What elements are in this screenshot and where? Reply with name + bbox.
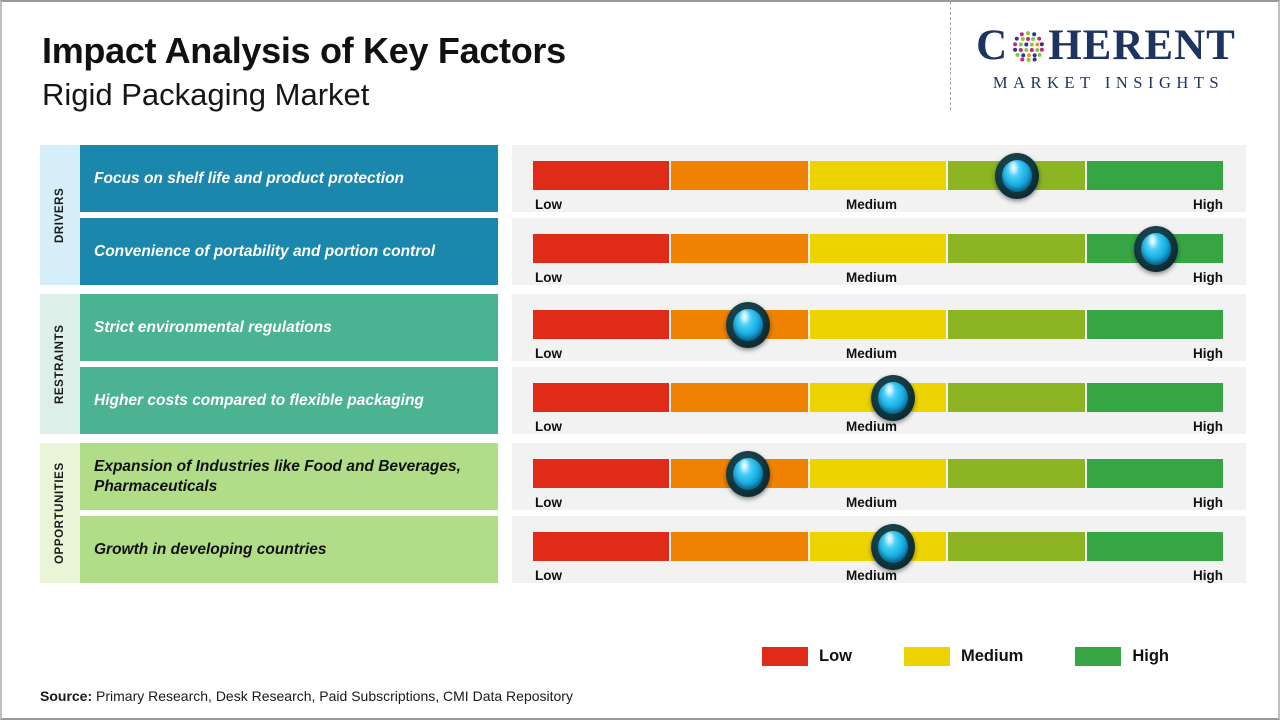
scale-label-medium: Medium	[846, 197, 897, 212]
scale-label-high: High	[1193, 346, 1223, 361]
gauge-segment-high	[1087, 234, 1225, 263]
group-label-opportunities: OPPORTUNITIES	[40, 443, 80, 583]
gauge-segment-medium-high	[948, 161, 1086, 190]
logo-tagline: MARKET INSIGHTS	[956, 73, 1256, 93]
legend-item-medium: Medium	[904, 647, 1023, 666]
group-rows-drivers: Focus on shelf life and product protecti…	[80, 145, 1246, 285]
scale-label-medium: Medium	[846, 568, 897, 583]
scale-label-high: High	[1193, 568, 1223, 583]
scale-label-low: Low	[535, 419, 562, 434]
group-label-drivers: DRIVERS	[40, 145, 80, 285]
gauge-segment-low-medium	[671, 532, 809, 561]
impact-gauge: Low Medium High	[512, 367, 1246, 434]
group-rows-restraints: Strict environmental regulations Low	[80, 294, 1246, 434]
coherent-market-insights-logo: C	[956, 24, 1256, 93]
scale-label-high: High	[1193, 419, 1223, 434]
factor-row: Focus on shelf life and product protecti…	[80, 145, 1246, 212]
factor-row: Higher costs compared to flexible packag…	[80, 367, 1246, 434]
gauge-segment-medium	[810, 383, 948, 412]
legend-swatch-high	[1075, 647, 1121, 666]
scale-label-medium: Medium	[846, 419, 897, 434]
logo-letters-herent: HERENT	[1048, 24, 1236, 67]
scale-label-high: High	[1193, 270, 1223, 285]
gauge-segment-low-medium	[671, 234, 809, 263]
title-block: Impact Analysis of Key Factors Rigid Pac…	[42, 32, 566, 111]
gauge-segment-medium-high	[948, 234, 1086, 263]
factor-label: Higher costs compared to flexible packag…	[80, 367, 498, 434]
factor-label: Strict environmental regulations	[80, 294, 498, 361]
gauge-segment-low	[533, 161, 671, 190]
source-label: Source:	[40, 688, 92, 704]
gauge-segment-high	[1087, 310, 1225, 339]
factor-label: Convenience of portability and portion c…	[80, 218, 498, 285]
gauge-segment-low-medium	[671, 383, 809, 412]
scale-label-low: Low	[535, 495, 562, 510]
impact-gauge: Low Medium High	[512, 145, 1246, 212]
scale-label-high: High	[1193, 495, 1223, 510]
scale-label-low: Low	[535, 270, 562, 285]
factor-row: Strict environmental regulations Low	[80, 294, 1246, 361]
gauge-segment-high	[1087, 161, 1225, 190]
gauge-segment-medium	[810, 459, 948, 488]
gauge-segment-medium-high	[948, 459, 1086, 488]
group-label-restraints: RESTRAINTS	[40, 294, 80, 434]
page-subtitle: Rigid Packaging Market	[42, 79, 566, 112]
group-opportunities: OPPORTUNITIES Expansion of Industries li…	[40, 443, 1246, 583]
source-note: Source: Primary Research, Desk Research,…	[40, 688, 573, 704]
scale-label-low: Low	[535, 346, 562, 361]
legend-item-low: Low	[762, 647, 852, 666]
logo-letter-c: C	[976, 24, 1008, 67]
gauge-scale-labels: Low Medium High	[533, 568, 1225, 583]
gauge-bar	[533, 459, 1225, 488]
gauge-bar	[533, 161, 1225, 190]
factor-row: Expansion of Industries like Food and Be…	[80, 443, 1246, 510]
gauge-segment-medium-high	[948, 310, 1086, 339]
gauge-bar	[533, 383, 1225, 412]
gauge-segment-low-medium	[671, 310, 809, 339]
legend-swatch-low	[762, 647, 808, 666]
scale-label-medium: Medium	[846, 495, 897, 510]
gauge-segment-medium-high	[948, 383, 1086, 412]
impact-gauge: Low Medium High	[512, 516, 1246, 583]
impact-gauge: Low Medium High	[512, 294, 1246, 361]
gauge-segment-low-medium	[671, 161, 809, 190]
gauge-scale-labels: Low Medium High	[533, 495, 1225, 510]
legend-item-high: High	[1075, 647, 1169, 666]
scale-label-medium: Medium	[846, 346, 897, 361]
factor-row: Growth in developing countries Low	[80, 516, 1246, 583]
gauge-bar	[533, 234, 1225, 263]
gauge-scale-labels: Low Medium High	[533, 270, 1225, 285]
gauge-segment-medium	[810, 532, 948, 561]
gauge-segment-medium	[810, 310, 948, 339]
gauge-segment-low-medium	[671, 459, 809, 488]
page-title: Impact Analysis of Key Factors	[42, 32, 566, 70]
gauge-scale-labels: Low Medium High	[533, 197, 1225, 212]
legend-swatch-medium	[904, 647, 950, 666]
gauge-segment-low	[533, 459, 671, 488]
scale-label-medium: Medium	[846, 270, 897, 285]
gauge-segment-low	[533, 310, 671, 339]
gauge-segment-medium	[810, 234, 948, 263]
factor-label: Growth in developing countries	[80, 516, 498, 583]
group-restraints: RESTRAINTS Strict environmental regulati…	[40, 294, 1246, 434]
legend-label-medium: Medium	[961, 647, 1023, 666]
gauge-scale-labels: Low Medium High	[533, 346, 1225, 361]
gauge-scale-labels: Low Medium High	[533, 419, 1225, 434]
gauge-bar	[533, 310, 1225, 339]
factor-label: Expansion of Industries like Food and Be…	[80, 443, 498, 510]
factor-label: Focus on shelf life and product protecti…	[80, 145, 498, 212]
impact-gauge: Low Medium High	[512, 218, 1246, 285]
scale-label-high: High	[1193, 197, 1223, 212]
header-dashed-divider	[950, 2, 951, 110]
gauge-segment-medium-high	[948, 532, 1086, 561]
gauge-segment-high	[1087, 383, 1225, 412]
legend-label-low: Low	[819, 647, 852, 666]
gauge-segment-high	[1087, 459, 1225, 488]
scale-label-low: Low	[535, 568, 562, 583]
scale-label-low: Low	[535, 197, 562, 212]
gauge-segment-low	[533, 234, 671, 263]
impact-matrix: DRIVERS Focus on shelf life and product …	[40, 145, 1246, 583]
source-text: Primary Research, Desk Research, Paid Su…	[92, 688, 573, 704]
gauge-segment-low	[533, 532, 671, 561]
impact-gauge: Low Medium High	[512, 443, 1246, 510]
group-rows-opportunities: Expansion of Industries like Food and Be…	[80, 443, 1246, 583]
legend-label-high: High	[1132, 647, 1169, 666]
gauge-segment-high	[1087, 532, 1225, 561]
gauge-segment-low	[533, 383, 671, 412]
legend: Low Medium High	[762, 647, 1169, 666]
gauge-bar	[533, 532, 1225, 561]
globe-dot-icon	[1009, 27, 1047, 65]
group-drivers: DRIVERS Focus on shelf life and product …	[40, 145, 1246, 285]
gauge-segment-medium	[810, 161, 948, 190]
logo-wordmark: C	[956, 24, 1256, 67]
factor-row: Convenience of portability and portion c…	[80, 218, 1246, 285]
slide-root: Impact Analysis of Key Factors Rigid Pac…	[2, 2, 1278, 718]
